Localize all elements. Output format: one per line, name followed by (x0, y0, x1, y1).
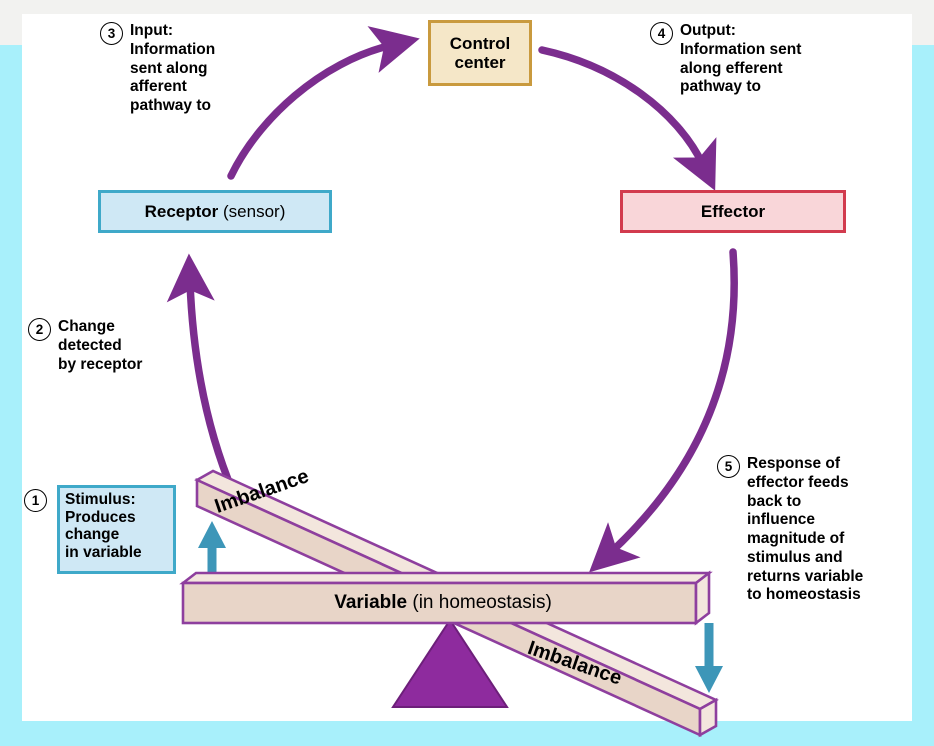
step-3-number: 3 (100, 22, 123, 45)
stimulus-box[interactable]: Stimulus: Produces change in variable (57, 485, 176, 574)
step-4-number: 4 (650, 22, 673, 45)
variable-label-bold: Variable (334, 592, 407, 613)
control-center-box[interactable]: Control center (428, 20, 532, 86)
effector-label: Effector (701, 202, 765, 222)
step-1-number: 1 (24, 489, 47, 512)
step-1-callout: 1 (24, 489, 47, 512)
variable-beam-label: Variable (in homeostasis) (183, 592, 703, 614)
step-4-callout: 4 Output: Information sent along efferen… (650, 22, 801, 97)
step-5-callout: 5 Response of effector feeds back to inf… (717, 455, 863, 605)
step-5-text: Response of effector feeds back to influ… (747, 455, 863, 605)
control-center-label: Control center (450, 34, 510, 72)
step-2-number: 2 (28, 318, 51, 341)
receptor-box[interactable]: Receptor (sensor) (98, 190, 332, 233)
step-2-text: Change detected by receptor (58, 318, 142, 374)
diagram-frame: Imbalance Imbalance Variable (in homeost… (0, 0, 934, 746)
step-5-number: 5 (717, 455, 740, 478)
effector-box[interactable]: Effector (620, 190, 846, 233)
receptor-label: Receptor (sensor) (145, 202, 286, 222)
step-4-text: Output: Information sent along efferent … (680, 22, 801, 97)
receptor-label-bold: Receptor (145, 202, 219, 221)
stimulus-label: Stimulus: Produces change in variable (65, 491, 142, 561)
step-2-callout: 2 Change detected by receptor (28, 318, 142, 374)
receptor-label-rest: (sensor) (218, 202, 285, 221)
teal-down-arrow (695, 623, 723, 693)
step-3-callout: 3 Input: Information sent along afferent… (100, 22, 215, 116)
step-3-text: Input: Information sent along afferent p… (130, 22, 215, 116)
variable-label-rest: (in homeostasis) (407, 592, 552, 613)
diagram-stage: Imbalance Imbalance Variable (in homeost… (0, 0, 934, 746)
